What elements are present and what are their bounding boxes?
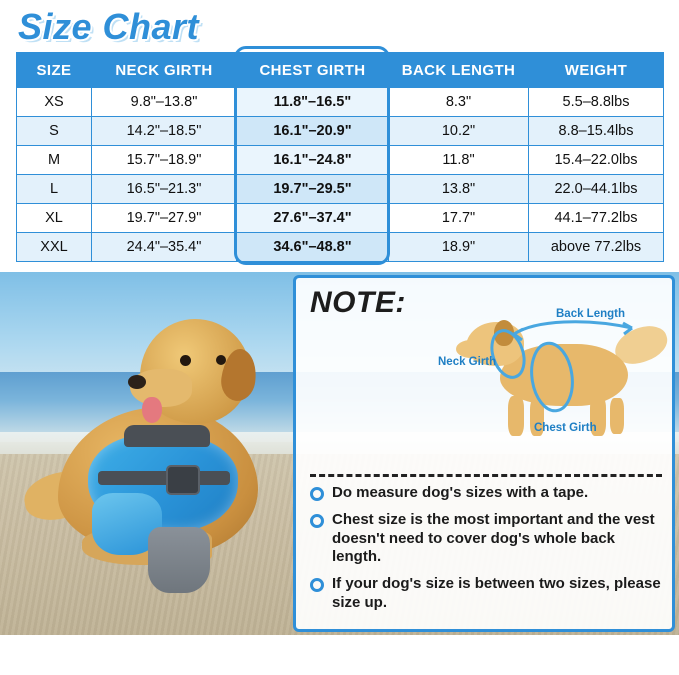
cell-size: L	[17, 175, 92, 204]
header-weight: WEIGHT	[529, 53, 664, 88]
cell-chest: 34.6"–48.8"	[237, 233, 389, 262]
cell-chest: 19.7"–29.5"	[237, 175, 389, 204]
cell-neck: 15.7"–18.9"	[92, 146, 237, 175]
cell-size: M	[17, 146, 92, 175]
cell-size: S	[17, 117, 92, 146]
photo-section: NOTE: Back Length N	[0, 272, 679, 635]
cell-chest: 27.6"–37.4"	[237, 204, 389, 233]
cell-back: 13.8"	[389, 175, 529, 204]
cell-chest: 16.1"–24.8"	[237, 146, 389, 175]
cell-chest: 11.8"–16.5"	[237, 88, 389, 117]
vest-handle	[124, 425, 210, 447]
bullet-circle-icon	[310, 578, 324, 592]
cell-neck: 9.8"–13.8"	[92, 88, 237, 117]
cell-size: XL	[17, 204, 92, 233]
cell-weight: above 77.2lbs	[529, 233, 664, 262]
page-title-area: Size Chart	[0, 0, 679, 52]
dog-photo	[30, 297, 290, 617]
cell-neck: 19.7"–27.9"	[92, 204, 237, 233]
note-title: NOTE:	[310, 286, 406, 320]
size-chart-table-wrap: SIZE NECK GIRTH CHEST GIRTH BACK LENGTH …	[16, 52, 663, 262]
label-neck-girth: Neck Girth	[438, 356, 496, 368]
page-title: Size Chart	[18, 6, 199, 48]
table-row: XXL 24.4"–35.4" 34.6"–48.8" 18.9" above …	[17, 233, 664, 262]
table-header-row: SIZE NECK GIRTH CHEST GIRTH BACK LENGTH …	[17, 53, 664, 88]
cell-back: 11.8"	[389, 146, 529, 175]
header-chest: CHEST GIRTH	[237, 53, 389, 88]
cell-size: XS	[17, 88, 92, 117]
list-item: Chest size is the most important and the…	[308, 511, 668, 567]
bullet-text: Do measure dog's sizes with a tape.	[332, 484, 588, 503]
vest-buckle	[166, 465, 200, 495]
cell-back: 18.9"	[389, 233, 529, 262]
cell-weight: 22.0–44.1lbs	[529, 175, 664, 204]
vest-grey-panel	[148, 527, 210, 593]
life-vest	[88, 435, 238, 531]
bullet-text: If your dog's size is between two sizes,…	[332, 575, 668, 613]
dashed-divider	[310, 474, 662, 477]
cell-neck: 16.5"–21.3"	[92, 175, 237, 204]
vest-strap	[98, 471, 230, 485]
chest-girth-ellipse	[527, 341, 576, 414]
dog-eye-left	[180, 355, 191, 366]
neck-girth-ellipse	[486, 327, 529, 382]
cell-weight: 5.5–8.8lbs	[529, 88, 664, 117]
header-back: BACK LENGTH	[389, 53, 529, 88]
table-row: XL 19.7"–27.9" 27.6"–37.4" 17.7" 44.1–77…	[17, 204, 664, 233]
cell-back: 10.2"	[389, 117, 529, 146]
label-back-length: Back Length	[556, 308, 625, 320]
note-panel: NOTE: Back Length N	[293, 275, 675, 632]
size-chart-table: SIZE NECK GIRTH CHEST GIRTH BACK LENGTH …	[16, 52, 664, 262]
header-neck: NECK GIRTH	[92, 53, 237, 88]
cell-weight: 44.1–77.2lbs	[529, 204, 664, 233]
note-bullet-list: Do measure dog's sizes with a tape. Ches…	[308, 484, 668, 621]
cell-chest: 16.1"–20.9"	[237, 117, 389, 146]
header-size: SIZE	[17, 53, 92, 88]
cell-weight: 8.8–15.4lbs	[529, 117, 664, 146]
label-chest-girth: Chest Girth	[534, 422, 597, 434]
dog-eye-right	[216, 355, 226, 365]
table-row: M 15.7"–18.9" 16.1"–24.8" 11.8" 15.4–22.…	[17, 146, 664, 175]
table-row: S 14.2"–18.5" 16.1"–20.9" 10.2" 8.8–15.4…	[17, 117, 664, 146]
cell-back: 17.7"	[389, 204, 529, 233]
list-item: Do measure dog's sizes with a tape.	[308, 484, 668, 503]
back-length-arc	[514, 322, 632, 334]
cell-neck: 14.2"–18.5"	[92, 117, 237, 146]
dog-tongue	[142, 397, 162, 423]
bullet-circle-icon	[310, 514, 324, 528]
table-row: XS 9.8"–13.8" 11.8"–16.5" 8.3" 5.5–8.8lb…	[17, 88, 664, 117]
measurement-diagram: Back Length Neck Girth Chest Girth	[436, 282, 674, 452]
list-item: If your dog's size is between two sizes,…	[308, 575, 668, 613]
cell-back: 8.3"	[389, 88, 529, 117]
dog-nose	[128, 375, 146, 389]
table-row: L 16.5"–21.3" 19.7"–29.5" 13.8" 22.0–44.…	[17, 175, 664, 204]
cell-size: XXL	[17, 233, 92, 262]
cell-neck: 24.4"–35.4"	[92, 233, 237, 262]
bullet-circle-icon	[310, 487, 324, 501]
bullet-text: Chest size is the most important and the…	[332, 511, 668, 567]
cell-weight: 15.4–22.0lbs	[529, 146, 664, 175]
